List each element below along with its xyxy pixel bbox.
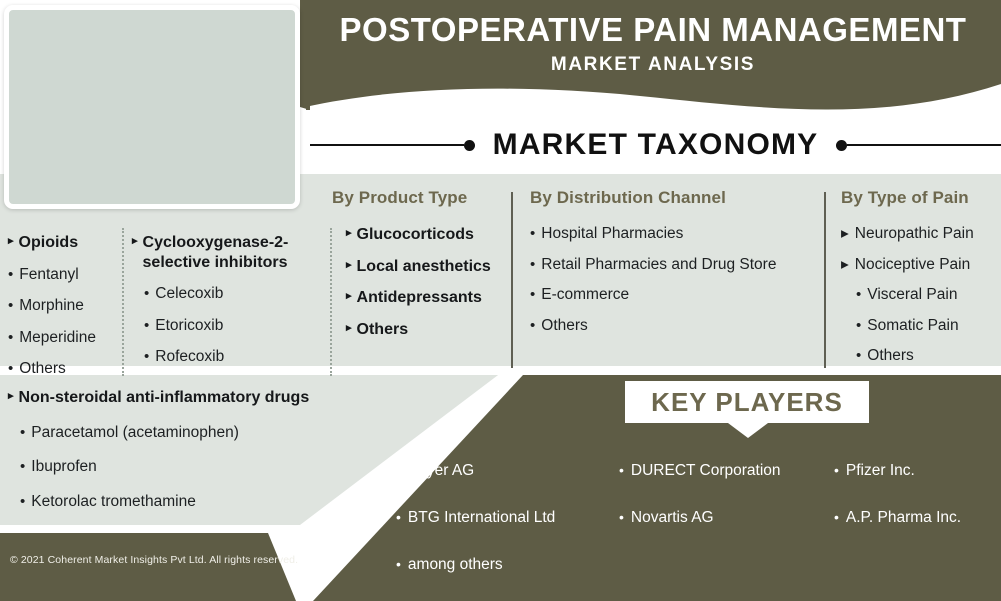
column-heading: By Distribution Channel [530, 188, 820, 208]
triangle-icon: ▸ [8, 388, 14, 405]
list-item: • A.P. Pharma Inc. [834, 509, 961, 528]
column-type-of-pain: By Type of Pain ▸ Neuropathic Pain ▸ Noc… [841, 188, 1001, 378]
list-item-label: BTG International Ltd [408, 509, 555, 528]
bullet-icon: • [856, 286, 861, 304]
bullet-icon: • [834, 509, 839, 527]
triangle-icon: ▸ [346, 257, 352, 274]
list-item: • DURECT Corporation [619, 462, 781, 481]
triangle-icon: ▸ [8, 233, 14, 250]
list-item: • Visceral Pain [856, 286, 1001, 305]
bullet-icon: • [396, 509, 401, 527]
bullet-icon: • [530, 286, 535, 304]
triangle-icon: ▸ [841, 256, 849, 275]
group-opioids-heading: ▸ Opioids [8, 233, 116, 253]
list-item: • Ketorolac tromethamine [20, 493, 320, 512]
bullet-icon: • [396, 462, 401, 480]
bullet-icon: • [20, 424, 25, 442]
key-players-banner: KEY PLAYERS [625, 381, 869, 423]
triangle-icon: ▸ [346, 288, 352, 305]
list-item-label: A.P. Pharma Inc. [846, 509, 961, 528]
bullet-icon: • [856, 347, 861, 365]
divider-vertical-1 [511, 192, 513, 368]
list-item: • Novartis AG [619, 509, 714, 528]
bullet-icon: • [144, 285, 149, 303]
taxonomy-dot-left [464, 140, 475, 151]
list-item: • Hospital Pharmacies [530, 225, 820, 244]
list-item: • Etoricoxib [144, 317, 310, 336]
group-heading-label: Opioids [19, 233, 79, 253]
list-item: ▸ Glucocorticods [346, 225, 497, 245]
group-opioids: ▸ Opioids • Fentanyl • Morphine • Meperi… [8, 233, 116, 392]
market-taxonomy-bar: MARKET TAXONOMY [310, 124, 1001, 166]
list-item: • E-commerce [530, 286, 820, 305]
list-item-label: Others [867, 347, 914, 366]
bullet-icon: • [834, 462, 839, 480]
list-item: • Meperidine [8, 329, 116, 348]
bullet-icon: • [20, 493, 25, 511]
list-item: • Retail Pharmacies and Drug Store [530, 256, 820, 275]
list-item-label: Rofecoxib [155, 348, 224, 367]
hero-photo [4, 5, 300, 209]
divider-dotted-left [122, 228, 124, 376]
taxonomy-title: MARKET TAXONOMY [475, 128, 837, 162]
list-item-label: Others [19, 360, 66, 379]
group-nsaids: ▸ Non-steroidal anti-inflammatory drugs … [8, 388, 320, 511]
column-heading: By Type of Pain [841, 188, 1001, 208]
bullet-icon: • [144, 317, 149, 335]
list-item-label: Antidepressants [357, 288, 482, 308]
list-item-label: Neuropathic Pain [855, 225, 974, 244]
key-players-title: KEY PLAYERS [651, 387, 843, 418]
list-item: • Others [8, 360, 116, 379]
taxonomy-rule-left [310, 144, 464, 146]
bullet-icon: • [619, 509, 624, 527]
list-item: • BTG International Ltd [396, 509, 555, 528]
list-item: • among others [396, 556, 503, 575]
group-cox2-heading: ▸ Cyclooxygenase-2-selective inhibitors [132, 233, 310, 272]
triangle-icon: ▸ [346, 320, 352, 337]
list-item-label: Novartis AG [631, 509, 714, 528]
bullet-icon: • [530, 225, 535, 243]
list-item: • Morphine [8, 297, 116, 316]
list-item-label: Ketorolac tromethamine [31, 493, 196, 512]
key-players-notch [728, 423, 768, 438]
list-item-label: Local anesthetics [357, 257, 491, 277]
list-item-label: Paracetamol (acetaminophen) [31, 424, 239, 443]
list-item-label: Fentanyl [19, 266, 78, 285]
bullet-icon: • [8, 266, 13, 284]
list-item-label: Hospital Pharmacies [541, 225, 683, 244]
list-item-label: Morphine [19, 297, 84, 316]
list-item: ▸ Others [346, 320, 497, 340]
list-item: • Others [856, 347, 1001, 366]
list-item: ▸ Antidepressants [346, 288, 497, 308]
taxonomy-rule-right [847, 144, 1001, 146]
list-item-label: Ibuprofen [31, 458, 97, 477]
group-heading-label: Cyclooxygenase-2-selective inhibitors [143, 233, 310, 272]
list-item-label: Others [357, 320, 409, 340]
list-item-label: E-commerce [541, 286, 629, 305]
list-item-label: Pfizer Inc. [846, 462, 915, 481]
bullet-icon: • [8, 297, 13, 315]
group-cox2: ▸ Cyclooxygenase-2-selective inhibitors … [132, 233, 310, 380]
list-item-label: Meperidine [19, 329, 96, 348]
bullet-icon: • [396, 556, 401, 574]
list-item: • Celecoxib [144, 285, 310, 304]
triangle-icon: ▸ [132, 233, 138, 250]
bullet-icon: • [619, 462, 624, 480]
column-heading: By Product Type [332, 188, 497, 208]
list-item-label: Bayer AG [408, 462, 474, 481]
group-nsaids-heading: ▸ Non-steroidal anti-inflammatory drugs [8, 388, 320, 408]
column-product-type: By Product Type ▸ Glucocorticods ▸ Local… [332, 188, 497, 351]
bullet-icon: • [8, 329, 13, 347]
bullet-icon: • [530, 317, 535, 335]
list-item: • Paracetamol (acetaminophen) [20, 424, 320, 443]
list-item-label: Nociceptive Pain [855, 256, 970, 275]
list-item: • Bayer AG [396, 462, 474, 481]
list-item: ▸ Nociceptive Pain [841, 256, 1001, 275]
list-item-label: DURECT Corporation [631, 462, 781, 481]
divider-vertical-2 [824, 192, 826, 368]
copyright-notice: © 2021 Coherent Market Insights Pvt Ltd.… [10, 554, 298, 566]
list-item: ▸ Neuropathic Pain [841, 225, 1001, 244]
list-item-label: Etoricoxib [155, 317, 223, 336]
page-title: POSTOPERATIVE PAIN MANAGEMENT [305, 12, 1001, 48]
triangle-icon: ▸ [841, 225, 849, 244]
infographic-root: POSTOPERATIVE PAIN MANAGEMENT MARKET ANA… [0, 0, 1001, 601]
bullet-icon: • [530, 256, 535, 274]
bullet-icon: • [144, 348, 149, 366]
list-item-label: Others [541, 317, 588, 336]
list-item-label: Celecoxib [155, 285, 223, 304]
list-item: ▸ Local anesthetics [346, 257, 497, 277]
list-item-label: Somatic Pain [867, 317, 958, 336]
list-item-label: Glucocorticods [357, 225, 474, 245]
column-distribution-channel: By Distribution Channel • Hospital Pharm… [530, 188, 820, 347]
list-item: • Ibuprofen [20, 458, 320, 477]
taxonomy-dot-right [836, 140, 847, 151]
header: POSTOPERATIVE PAIN MANAGEMENT MARKET ANA… [305, 12, 1001, 76]
list-item-label: Retail Pharmacies and Drug Store [541, 256, 776, 275]
list-item: • Pfizer Inc. [834, 462, 915, 481]
bullet-icon: • [20, 458, 25, 476]
list-item: • Rofecoxib [144, 348, 310, 367]
list-item: • Others [530, 317, 820, 336]
triangle-icon: ▸ [346, 225, 352, 242]
bullet-icon: • [856, 317, 861, 335]
footer-panel [0, 533, 296, 601]
group-heading-label: Non-steroidal anti-inflammatory drugs [19, 388, 310, 408]
list-item-label: Visceral Pain [867, 286, 957, 305]
list-item: • Fentanyl [8, 266, 116, 285]
list-item: • Somatic Pain [856, 317, 1001, 336]
list-item-label: among others [408, 556, 503, 575]
page-subtitle: MARKET ANALYSIS [305, 54, 1001, 76]
bullet-icon: • [8, 360, 13, 378]
